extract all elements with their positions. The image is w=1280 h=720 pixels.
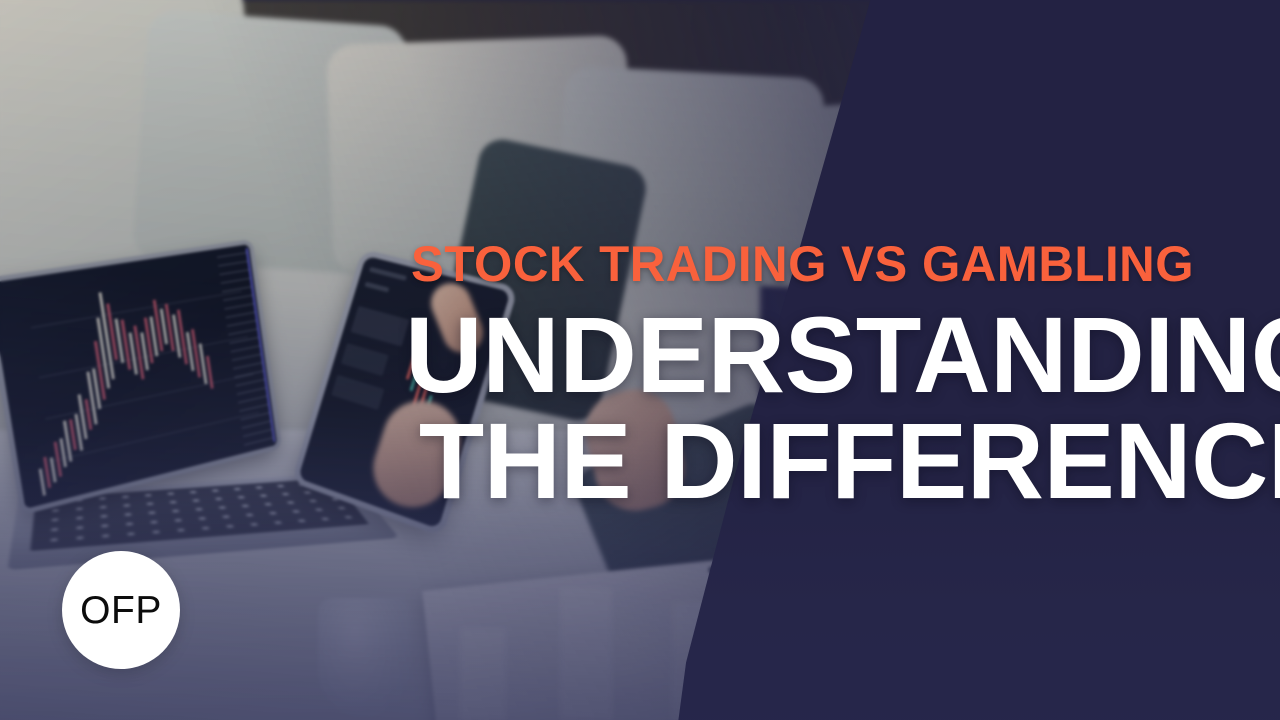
drinking-glass <box>318 598 410 716</box>
pillow <box>783 92 1036 308</box>
candle <box>206 356 213 389</box>
logo-initials: OFP <box>80 591 162 630</box>
background-photo <box>0 0 1280 720</box>
thumbnail-canvas: STOCK TRADING VS GAMBLING UNDERSTANDING … <box>0 0 1280 720</box>
logo-badge[interactable]: OFP <box>62 551 180 669</box>
candle <box>199 343 208 384</box>
